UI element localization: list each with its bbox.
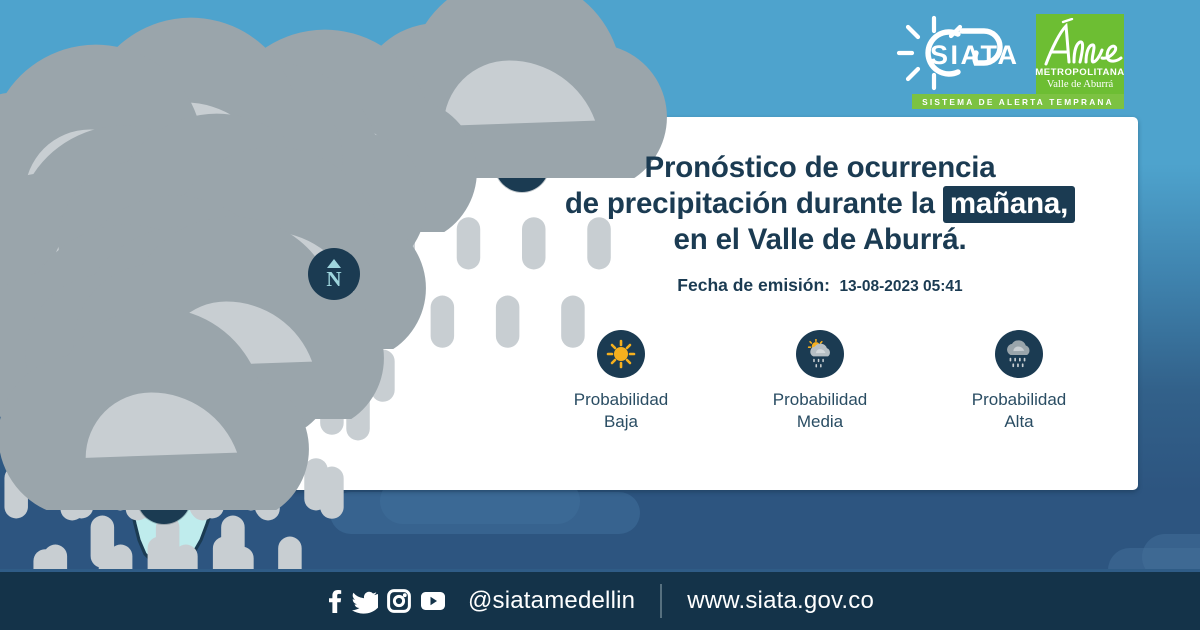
probability-legend: Probabilidad Baja [520, 330, 1120, 434]
page-title: Pronóstico de ocurrencia de precipitació… [520, 150, 1120, 258]
compass-north-label: N [326, 269, 341, 290]
footer-divider [660, 584, 662, 618]
twitter-icon[interactable] [352, 588, 378, 614]
website-url[interactable]: www.siata.gov.co [687, 587, 874, 615]
infographic-canvas: SIATA METROPOLITANA Valle de Aburrá SIST… [0, 0, 1200, 630]
social-handle[interactable]: @siatamedellin [468, 587, 635, 615]
title-highlight-manana: mañana, [943, 186, 1075, 223]
title-line-3: en el Valle de Aburrá. [520, 222, 1120, 258]
legend-label-media: Probabilidad Media [773, 389, 868, 434]
area-logo-line2: Valle de Aburrá [1047, 79, 1113, 91]
legend-label-alta-line2: Alta [972, 411, 1067, 433]
legend-label-baja: Probabilidad Baja [574, 389, 669, 434]
header-logos: SIATA METROPOLITANA Valle de Aburrá [896, 14, 1124, 96]
emission-date: Fecha de emisión: 13-08-2023 05:41 [520, 275, 1120, 296]
facebook-icon[interactable] [326, 588, 343, 614]
emission-date-label: Fecha de emisión: [677, 275, 830, 295]
sun-cloud-rain-icon [804, 339, 837, 370]
legend-label-baja-line1: Probabilidad [574, 389, 669, 411]
instagram-icon[interactable] [387, 589, 411, 613]
legend-label-alta-line1: Probabilidad [972, 389, 1067, 411]
emission-date-value: 13-08-2023 05:41 [839, 278, 962, 295]
legend-icon-baja [597, 330, 645, 378]
legend-icon-alta [995, 330, 1043, 378]
legend-item-alta: Probabilidad Alta [944, 330, 1094, 434]
title-line-2-text: de precipitación durante la [565, 187, 935, 220]
area-metropolitana-logo: METROPOLITANA Valle de Aburrá [1036, 14, 1124, 96]
siata-tagline: SISTEMA DE ALERTA TEMPRANA [912, 94, 1124, 109]
siata-logo: SIATA [896, 14, 1036, 92]
legend-label-baja-line2: Baja [574, 411, 669, 433]
legend-icon-media [796, 330, 844, 378]
social-icons [326, 588, 446, 614]
title-line-1: Pronóstico de ocurrencia [520, 150, 1120, 186]
area-script-icon [1036, 18, 1124, 72]
cloud-rain-icon [1002, 338, 1036, 370]
footer-bar: @siatamedellin www.siata.gov.co [0, 572, 1200, 630]
legend-label-media-line1: Probabilidad [773, 389, 868, 411]
map-pin-caldas[interactable] [137, 470, 191, 524]
legend-item-baja: Probabilidad Baja [546, 330, 696, 434]
legend-item-media: Probabilidad Media [745, 330, 895, 434]
compass-north-indicator: N [308, 248, 360, 300]
valle-de-aburra-map: N [55, 48, 525, 578]
legend-label-media-line2: Media [773, 411, 868, 433]
legend-label-alta: Probabilidad Alta [972, 389, 1067, 434]
title-line-2: de precipitación durante la mañana, [520, 186, 1120, 222]
siata-wordmark: SIATA [930, 40, 1020, 71]
sun-icon [605, 338, 637, 370]
forecast-panel: Pronóstico de ocurrencia de precipitació… [520, 150, 1120, 296]
youtube-icon[interactable] [420, 591, 446, 611]
